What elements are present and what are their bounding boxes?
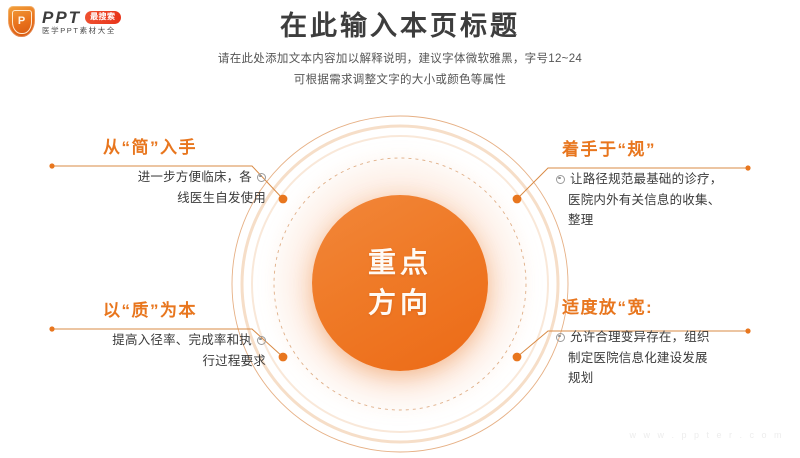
bullet-ring-icon — [257, 336, 266, 345]
slide-canvas: P PPT 最搜索 医学PPT素材大全 在此输入本页标题 请在此处添加文本内容加… — [0, 0, 800, 450]
item-body-line: 制定医院信息化建设发展 — [556, 348, 800, 368]
item-body-line: 允许合理变异存在，组织 — [556, 327, 800, 347]
item-bottom-right: 适度放“宽: 允许合理变异存在，组织 制定医院信息化建设发展 规划 — [556, 298, 800, 388]
item-body: 让路径规范最基础的诊疗， 医院内外有关信息的收集、 整理 — [556, 169, 800, 230]
item-body: 提高入径率、完成率和执 行过程要求 — [28, 330, 280, 371]
item-bottom-left: 以“质”为本 提高入径率、完成率和执 行过程要求 — [28, 301, 280, 371]
center-circle: 重点 方向 — [312, 195, 488, 371]
item-heading: 适度放“宽: — [556, 298, 800, 318]
bullet-ring-icon — [556, 333, 565, 342]
item-body-line: 提高入径率、完成率和执 — [28, 330, 266, 350]
item-body: 进一步方便临床，各 线医生自发使用 — [28, 167, 280, 208]
item-body-line: 医院内外有关信息的收集、 — [556, 190, 800, 210]
item-body-line: 让路径规范最基础的诊疗， — [556, 169, 800, 189]
item-top-right: 着手于“规” 让路径规范最基础的诊疗， 医院内外有关信息的收集、 整理 — [556, 140, 800, 230]
item-heading: 着手于“规” — [556, 140, 800, 160]
subtitle-line-1: 请在此处添加文本内容加以解释说明，建议字体微软雅黑，字号12~24 — [0, 49, 800, 69]
item-body-line: 整理 — [556, 210, 800, 230]
item-top-left: 从“简”入手 进一步方便临床，各 线医生自发使用 — [28, 138, 280, 208]
item-body-line: 线医生自发使用 — [28, 188, 266, 208]
bullet-ring-icon — [257, 173, 266, 182]
item-heading: 从“简”入手 — [28, 138, 280, 158]
item-body-line: 规划 — [556, 368, 800, 388]
item-body-line: 行过程要求 — [28, 351, 266, 371]
center-line-2: 方向 — [368, 283, 432, 323]
subtitle-line-2: 可根据需求调整文字的大小或颜色等属性 — [0, 70, 800, 90]
item-body: 允许合理变异存在，组织 制定医院信息化建设发展 规划 — [556, 327, 800, 388]
item-heading: 以“质”为本 — [28, 301, 280, 321]
item-body-line: 进一步方便临床，各 — [28, 167, 266, 187]
page-title: 在此输入本页标题 — [0, 10, 800, 42]
page-subtitle: 请在此处添加文本内容加以解释说明，建议字体微软雅黑，字号12~24 可根据需求调… — [0, 49, 800, 89]
watermark: w w w . p p t e r . c o m — [629, 430, 784, 440]
center-line-1: 重点 — [368, 243, 432, 283]
slide-header: 在此输入本页标题 请在此处添加文本内容加以解释说明，建议字体微软雅黑，字号12~… — [0, 10, 800, 90]
bullet-ring-icon — [556, 175, 565, 184]
